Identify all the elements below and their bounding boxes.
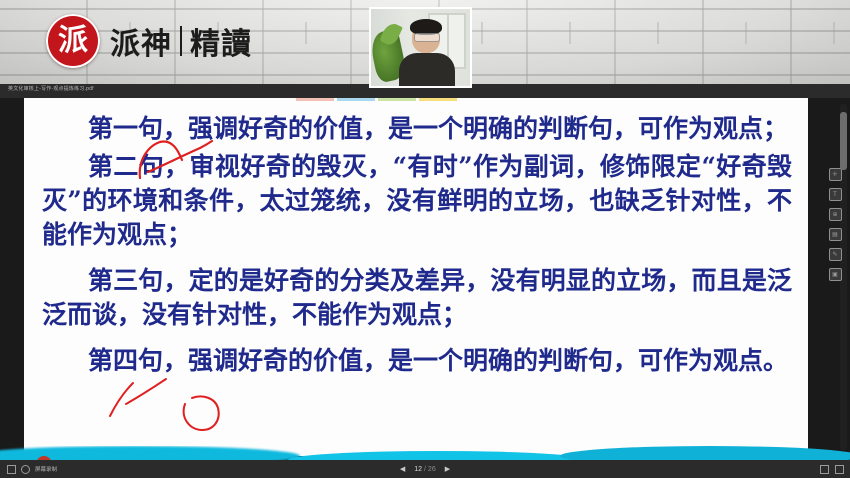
current-page: 12 xyxy=(414,466,422,473)
next-page-button[interactable]: ▶ xyxy=(445,466,450,473)
brand-name-secondary: 精讀 xyxy=(190,19,252,63)
note-tool-icon[interactable]: ✎ xyxy=(829,248,842,261)
right-toolbar: ✛ T ⊕ ▤ ✎ ▣ xyxy=(828,168,842,281)
brand-divider xyxy=(180,26,182,56)
glow-segment-right xyxy=(560,446,850,460)
paragraph-2: 第二句，审视好奇的毁灭，“有时”作为副词，修饰限定“好奇毁灭”的环境和条件，太过… xyxy=(24,150,808,252)
zoom-tool-icon[interactable]: ⊕ xyxy=(829,208,842,221)
page-indicator: 12 / 26 xyxy=(414,466,435,473)
seal-character: 派 xyxy=(58,26,88,56)
screen-recording-frame: 派 派神 精讀 英文化审核上-写作-观点提炼练习.pdf 第一句，强调好奇的价值… xyxy=(0,0,850,478)
highlight-tool-icon[interactable]: ▤ xyxy=(829,228,842,241)
vertical-scrollbar-thumb[interactable] xyxy=(840,112,847,170)
paragraph-4: 第四句，强调好奇的价值，是一个明确的判断句，可作为观点。 xyxy=(24,344,808,378)
layout-icon[interactable] xyxy=(820,465,829,474)
panel-icon[interactable] xyxy=(7,465,16,474)
pan-tool-icon[interactable]: ✛ xyxy=(829,168,842,181)
window-title: 英文化审核上-写作-观点提炼练习.pdf xyxy=(8,85,94,92)
webcam-person-glasses xyxy=(414,33,440,42)
page-separator: / xyxy=(424,466,426,473)
record-icon[interactable] xyxy=(21,465,30,474)
prev-page-button[interactable]: ◀ xyxy=(400,466,405,473)
total-pages: 26 xyxy=(428,466,436,473)
paragraph-3: 第三句，定的是好奇的分类及差异，没有明显的立场，而且是泛泛而谈，没有针对性，不能… xyxy=(24,264,808,332)
document-text: 第一句，强调好奇的价值，是一个明确的判断句，可作为观点； 第二句，审视好奇的毁灭… xyxy=(24,98,808,456)
document-page[interactable]: 第一句，强调好奇的价值，是一个明确的判断句，可作为观点； 第二句，审视好奇的毁灭… xyxy=(24,98,808,456)
webcam-person-body xyxy=(399,53,455,87)
text-select-tool-icon[interactable]: T xyxy=(829,188,842,201)
seal-icon: 派 xyxy=(46,14,100,68)
brand-name-primary: 派神 xyxy=(110,19,172,63)
brand-logo: 派 派神 精讀 xyxy=(46,14,252,68)
page-navigation: ◀ 12 / 26 ▶ xyxy=(350,466,500,473)
glow-segment-center xyxy=(288,451,588,460)
presenter-webcam-overlay[interactable] xyxy=(369,7,472,88)
bottom-status-bar: 屏幕录制 ◀ 12 / 26 ▶ xyxy=(0,460,850,478)
cyan-glow-band xyxy=(0,446,850,460)
status-text: 屏幕录制 xyxy=(35,465,57,473)
status-right-group xyxy=(820,465,844,474)
stamp-tool-icon[interactable]: ▣ xyxy=(829,268,842,281)
paragraph-1: 第一句，强调好奇的价值，是一个明确的判断句，可作为观点； xyxy=(24,112,808,146)
status-left-group: 屏幕录制 xyxy=(0,465,57,474)
brand-name: 派神 精讀 xyxy=(110,19,252,63)
fullscreen-icon[interactable] xyxy=(835,465,844,474)
